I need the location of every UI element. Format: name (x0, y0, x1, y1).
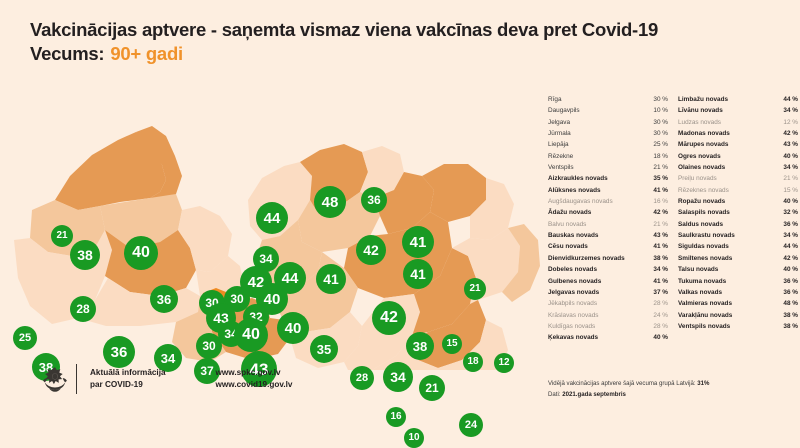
region-coverage-value: 35 % (649, 173, 668, 184)
map-marker: 21 (464, 278, 486, 300)
footer-info-line2: par COVID-19 (90, 379, 166, 391)
region-name: Ādažu novads (548, 207, 649, 218)
map-marker: 40 (124, 236, 158, 270)
map-marker: 28 (350, 366, 374, 390)
infographic-root: Vakcinācijas aptvere - saņemta vismaz vi… (0, 0, 800, 420)
region-coverage-value: 48 % (779, 298, 798, 309)
region-coverage-value: 44 % (779, 94, 798, 105)
map-marker: 28 (70, 296, 96, 322)
region-name: Rēzekne (548, 151, 649, 162)
table-row: Dienvidkurzemes novads38 % (548, 253, 668, 264)
coverage-table: Rīga30 %Daugavpils10 %Jelgava30 %Jūrmala… (548, 94, 798, 344)
region-name: Daugavpils (548, 105, 649, 116)
table-row: Līvānu novads34 % (678, 105, 798, 116)
table-row: Rēzeknes novads15 % (678, 185, 798, 196)
region-name: Dobeles novads (548, 264, 649, 275)
map-marker: 24 (459, 413, 483, 437)
average-coverage-note: Vidējā vakcinācijas aptvere šajā vecuma … (548, 378, 798, 389)
region-coverage-value: 40 % (779, 151, 798, 162)
region-name: Jūrmala (548, 128, 649, 139)
table-row: Ventspils21 % (548, 162, 668, 173)
region-coverage-value: 25 % (649, 139, 668, 150)
map-marker: 34 (383, 362, 413, 392)
map-marker: 41 (316, 264, 346, 294)
region-coverage-value: 30 % (649, 117, 668, 128)
region-name: Valkas novads (678, 287, 779, 298)
map-marker: 40 (234, 318, 268, 352)
average-coverage-value: 31% (697, 380, 709, 387)
region-name: Saldus novads (678, 219, 779, 230)
table-row: Daugavpils10 % (548, 105, 668, 116)
region-name: Preiļu novads (678, 173, 779, 184)
latvia-coat-of-arms-icon (38, 362, 72, 396)
table-row: Rīga30 % (548, 94, 668, 105)
region-name: Kuldīgas novads (548, 321, 649, 332)
region-coverage-value: 40 % (779, 196, 798, 207)
region-name: Dienvidkurzemes novads (548, 253, 649, 264)
map-marker: 40 (277, 312, 309, 344)
footer-divider (76, 364, 77, 394)
table-row: Cēsu novads41 % (548, 241, 668, 252)
region-coverage-value: 36 % (779, 287, 798, 298)
table-row: Bauskas novads43 % (548, 230, 668, 241)
map-marker: 41 (402, 226, 434, 258)
map-marker: 36 (150, 285, 178, 313)
region-name: Rēzeknes novads (678, 185, 779, 196)
region-name: Ventspils novads (678, 321, 779, 332)
table-row: Valmieras novads48 % (678, 298, 798, 309)
region-name: Madonas novads (678, 128, 779, 139)
table-column-left: Rīga30 %Daugavpils10 %Jelgava30 %Jūrmala… (548, 94, 668, 344)
region-name: Talsu novads (678, 264, 779, 275)
table-row: Augšdaugavas novads16 % (548, 196, 668, 207)
table-row: Jūrmala30 % (548, 128, 668, 139)
map-marker: 30 (196, 333, 222, 359)
region-name: Augšdaugavas novads (548, 196, 649, 207)
region-name: Liepāja (548, 139, 649, 150)
map-marker: 16 (386, 407, 406, 427)
region-coverage-value: 36 % (779, 219, 798, 230)
average-coverage-label: Vidējā vakcinācijas aptvere šajā vecuma … (548, 380, 697, 387)
map-marker: 21 (419, 375, 445, 401)
map-marker: 18 (463, 352, 483, 372)
age-value: 90+ gadi (110, 43, 183, 64)
table-row: Saulkrastu novads34 % (678, 230, 798, 241)
region-coverage-value: 40 % (779, 264, 798, 275)
latvia-map: 2138403628253836343030344244403243344030… (0, 80, 550, 370)
region-name: Cēsu novads (548, 241, 649, 252)
region-coverage-value: 34 % (779, 105, 798, 116)
table-row: Talsu novads40 % (678, 264, 798, 275)
table-row: Ķekavas novads40 % (548, 332, 668, 343)
table-row: Ogres novads40 % (678, 151, 798, 162)
table-row: Jelgava30 % (548, 117, 668, 128)
map-marker: 35 (310, 335, 338, 363)
map-marker: 38 (70, 240, 100, 270)
region-coverage-value: 38 % (779, 310, 798, 321)
region-coverage-value: 34 % (779, 162, 798, 173)
data-date-label: Dati: (548, 391, 562, 398)
data-date-note: Dati: 2021.gada septembris (548, 389, 798, 400)
region-coverage-value: 37 % (649, 287, 668, 298)
region-name: Tukuma novads (678, 276, 779, 287)
footer-branding: Aktuālā informācija par COVID-19 www.spk… (38, 362, 292, 396)
region-coverage-value: 44 % (779, 241, 798, 252)
region-coverage-value: 12 % (779, 117, 798, 128)
header: Vakcinācijas aptvere - saņemta vismaz vi… (30, 18, 770, 66)
region-coverage-value: 24 % (649, 310, 668, 321)
map-marker: 42 (356, 235, 386, 265)
region-coverage-value: 15 % (779, 185, 798, 196)
region-coverage-value: 21 % (649, 162, 668, 173)
footer-links: www.spkc.gov.lv www.covid19.gov.lv (216, 367, 293, 391)
table-row: Aizkraukles novads35 % (548, 173, 668, 184)
map-marker: 38 (406, 332, 434, 360)
region-coverage-value: 30 % (649, 128, 668, 139)
region-coverage-value: 30 % (649, 94, 668, 105)
map-marker: 12 (494, 353, 514, 373)
region-name: Varakļānu novads (678, 310, 779, 321)
region-coverage-value: 21 % (649, 219, 668, 230)
table-row: Kuldīgas novads28 % (548, 321, 668, 332)
region-coverage-value: 41 % (649, 276, 668, 287)
map-marker: 15 (442, 334, 462, 354)
region-coverage-value: 38 % (649, 253, 668, 264)
region-coverage-value: 21 % (779, 173, 798, 184)
table-row: Jelgavas novads37 % (548, 287, 668, 298)
table-row: Mārupes novads43 % (678, 139, 798, 150)
region-name: Rīga (548, 94, 649, 105)
region-coverage-value: 41 % (649, 241, 668, 252)
table-row: Liepāja25 % (548, 139, 668, 150)
region-coverage-value: 28 % (649, 298, 668, 309)
footer-info-line1: Aktuālā informācija (90, 367, 166, 379)
region-coverage-value: 41 % (649, 185, 668, 196)
region-name: Siguldas novads (678, 241, 779, 252)
region-coverage-value: 43 % (649, 230, 668, 241)
table-row: Rēzekne18 % (548, 151, 668, 162)
table-row: Ludzas novads12 % (678, 117, 798, 128)
table-row: Balvu novads21 % (548, 219, 668, 230)
table-column-right: Limbažu novads44 %Līvānu novads34 %Ludza… (678, 94, 798, 344)
region-coverage-value: 32 % (779, 207, 798, 218)
region-coverage-value: 34 % (779, 230, 798, 241)
region-name: Ventspils (548, 162, 649, 173)
map-marker: 21 (51, 225, 73, 247)
table-row: Madonas novads42 % (678, 128, 798, 139)
table-row: Alūksnes novads41 % (548, 185, 668, 196)
table-row: Dobeles novads34 % (548, 264, 668, 275)
region-name: Gulbenes novads (548, 276, 649, 287)
map-marker: 48 (314, 186, 346, 218)
region-coverage-value: 34 % (649, 264, 668, 275)
region-coverage-value: 38 % (779, 321, 798, 332)
region-name: Alūksnes novads (548, 185, 649, 196)
footer-notes: Vidējā vakcinācijas aptvere šajā vecuma … (548, 378, 798, 400)
region-coverage-value: 18 % (649, 151, 668, 162)
footer-info-text: Aktuālā informācija par COVID-19 (90, 367, 166, 391)
table-row: Ropažu novads40 % (678, 196, 798, 207)
data-date-value: 2021.gada septembris (562, 391, 626, 398)
table-row: Gulbenes novads41 % (548, 276, 668, 287)
region-coverage-value: 28 % (649, 321, 668, 332)
table-row: Varakļānu novads38 % (678, 310, 798, 321)
age-label: Vecums: (30, 43, 104, 64)
region-name: Ropažu novads (678, 196, 779, 207)
region-name: Saulkrastu novads (678, 230, 779, 241)
table-row: Salaspils novads32 % (678, 207, 798, 218)
table-row: Ventspils novads38 % (678, 321, 798, 332)
region-coverage-value: 16 % (649, 196, 668, 207)
map-marker: 44 (256, 202, 288, 234)
region-name: Ludzas novads (678, 117, 779, 128)
region-name: Ogres novads (678, 151, 779, 162)
region-name: Krāslavas novads (548, 310, 649, 321)
region-coverage-value: 42 % (779, 128, 798, 139)
table-row: Jēkabpils novads28 % (548, 298, 668, 309)
region-name: Aizkraukles novads (548, 173, 649, 184)
table-row: Ādažu novads42 % (548, 207, 668, 218)
region-coverage-value: 42 % (779, 253, 798, 264)
link-covid19[interactable]: www.covid19.gov.lv (216, 379, 293, 391)
region-name: Limbažu novads (678, 94, 779, 105)
region-name: Bauskas novads (548, 230, 649, 241)
table-row: Preiļu novads21 % (678, 173, 798, 184)
page-title: Vakcinācijas aptvere - saņemta vismaz vi… (30, 18, 770, 41)
region-name: Jelgavas novads (548, 287, 649, 298)
region-name: Mārupes novads (678, 139, 779, 150)
region-name: Balvu novads (548, 219, 649, 230)
table-row: Krāslavas novads24 % (548, 310, 668, 321)
table-row: Tukuma novads36 % (678, 276, 798, 287)
region-name: Smiltenes novads (678, 253, 779, 264)
region-coverage-value: 42 % (649, 207, 668, 218)
age-group-line: Vecums:90+ gadi (30, 42, 770, 66)
table-row: Valkas novads36 % (678, 287, 798, 298)
table-row: Smiltenes novads42 % (678, 253, 798, 264)
map-marker: 42 (372, 301, 406, 335)
region-name: Salaspils novads (678, 207, 779, 218)
region-name: Jelgava (548, 117, 649, 128)
table-row: Limbažu novads44 % (678, 94, 798, 105)
region-name: Līvānu novads (678, 105, 779, 116)
region-coverage-value: 36 % (779, 276, 798, 287)
map-marker: 41 (403, 259, 433, 289)
table-row: Saldus novads36 % (678, 219, 798, 230)
region-coverage-value: 10 % (649, 105, 668, 116)
map-marker: 36 (361, 187, 387, 213)
region-name: Jēkabpils novads (548, 298, 649, 309)
region-coverage-value: 40 % (649, 332, 668, 343)
region-name: Olaines novads (678, 162, 779, 173)
map-marker: 25 (13, 326, 37, 350)
map-marker: 10 (404, 428, 424, 448)
link-spkc[interactable]: www.spkc.gov.lv (216, 367, 293, 379)
table-row: Olaines novads34 % (678, 162, 798, 173)
region-coverage-value: 43 % (779, 139, 798, 150)
table-row: Siguldas novads44 % (678, 241, 798, 252)
region-name: Valmieras novads (678, 298, 779, 309)
region-name: Ķekavas novads (548, 332, 649, 343)
